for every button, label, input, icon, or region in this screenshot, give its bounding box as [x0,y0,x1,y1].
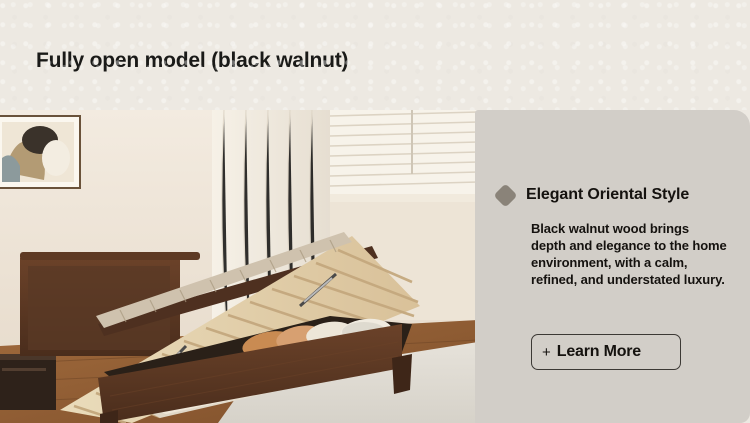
product-feature-banner: Fully open model (black walnut) [0,0,750,423]
bed-leg [392,354,412,394]
feature-info-panel: Elegant Oriental Style Black walnut wood… [475,110,750,423]
product-photo [0,110,478,423]
window-with-blinds [318,110,478,203]
feature-heading: Elegant Oriental Style [526,186,689,204]
learn-more-button[interactable]: + Learn More [531,334,681,370]
header-bar: Fully open model (black walnut) [0,0,750,110]
plus-icon: + [542,345,551,360]
nightstand [0,354,56,410]
wall-artwork [0,116,80,188]
feature-heading-row: Elegant Oriental Style [497,186,689,204]
page-title: Fully open model (black walnut) [36,49,348,73]
learn-more-label: Learn More [557,343,641,361]
bedroom-scene-illustration [0,110,478,423]
feature-description: Black walnut wood brings depth and elega… [531,220,727,288]
diamond-bullet-icon [493,183,517,207]
